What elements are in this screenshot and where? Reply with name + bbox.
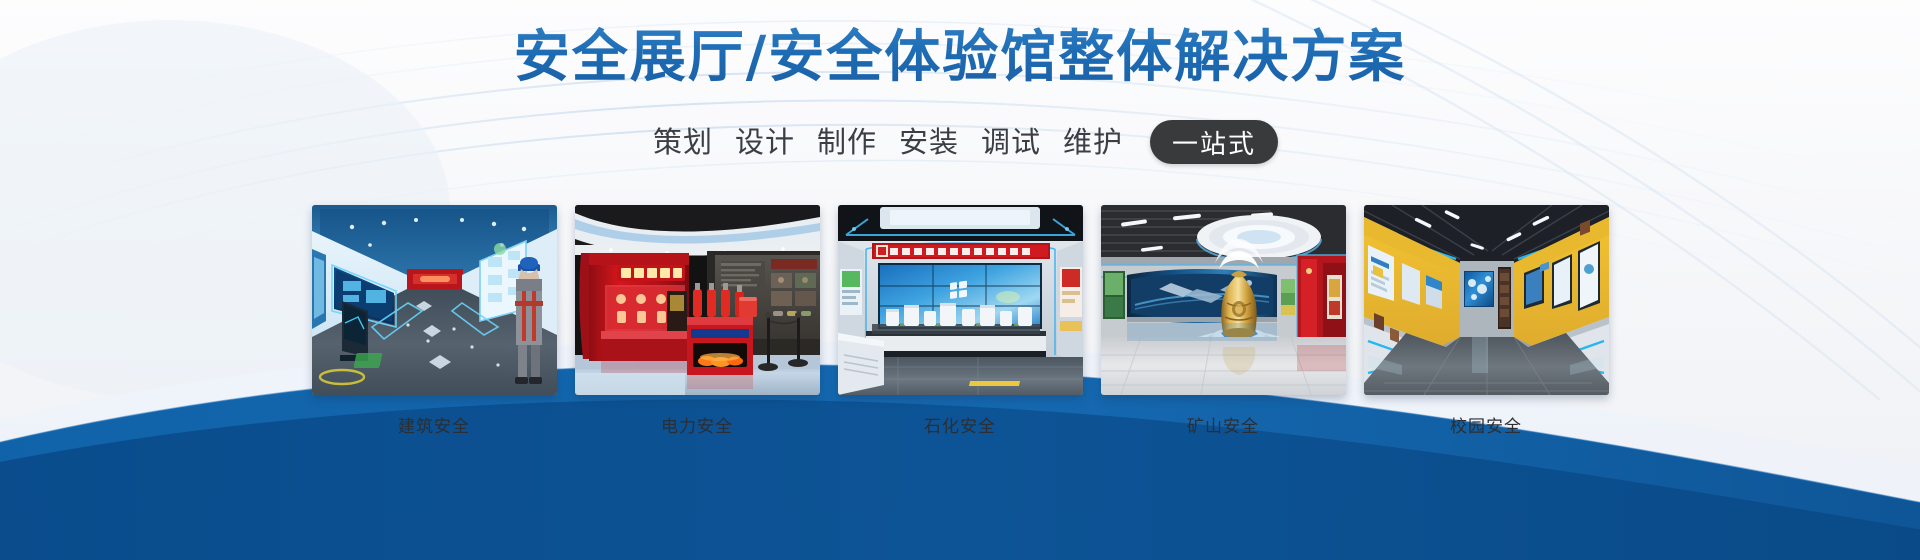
solution-card-caption: 电力安全 <box>661 412 733 437</box>
one-stop-badge: 一站式 <box>1150 120 1278 164</box>
solution-card[interactable]: 石化安全 <box>838 205 1083 437</box>
solution-card-caption: 矿山安全 <box>1187 412 1259 437</box>
solution-card[interactable]: 电力安全 <box>575 205 820 437</box>
page-title: 安全展厅/安全体验馆整体解决方案 <box>0 22 1920 94</box>
construction-safety-exhibition-hall-image[interactable] <box>312 205 557 395</box>
subtitle-row: 策划 设计 制作 安装 调试 维护 一站式 <box>0 120 1920 164</box>
subtitle-word-installation: 安装 <box>899 122 959 162</box>
petrochemical-safety-training-base-image[interactable] <box>838 205 1083 395</box>
solution-card[interactable]: 校园安全 <box>1364 205 1609 437</box>
power-safety-fire-equipment-hall-image[interactable] <box>575 205 820 395</box>
solution-card-caption: 石化安全 <box>924 412 996 437</box>
subtitle-word-debugging: 调试 <box>981 122 1041 162</box>
subtitle-word-design: 设计 <box>735 122 795 162</box>
solution-card-caption: 建筑安全 <box>398 412 470 437</box>
mining-safety-hall-bell-image[interactable] <box>1101 205 1346 395</box>
campus-safety-corridor-image[interactable] <box>1364 205 1609 395</box>
solution-card[interactable]: 建筑安全 <box>312 205 557 437</box>
solution-card-list: 建筑安全 <box>0 205 1920 437</box>
subtitle-word-planning: 策划 <box>653 122 713 162</box>
solution-card-caption: 校园安全 <box>1450 412 1522 437</box>
subtitle-word-maintenance: 维护 <box>1063 122 1123 162</box>
subtitle-word-production: 制作 <box>817 122 877 162</box>
promo-banner: 安全展厅/安全体验馆整体解决方案 策划 设计 制作 安装 调试 维护 一站式 <box>0 0 1920 560</box>
solution-card[interactable]: 矿山安全 <box>1101 205 1346 437</box>
